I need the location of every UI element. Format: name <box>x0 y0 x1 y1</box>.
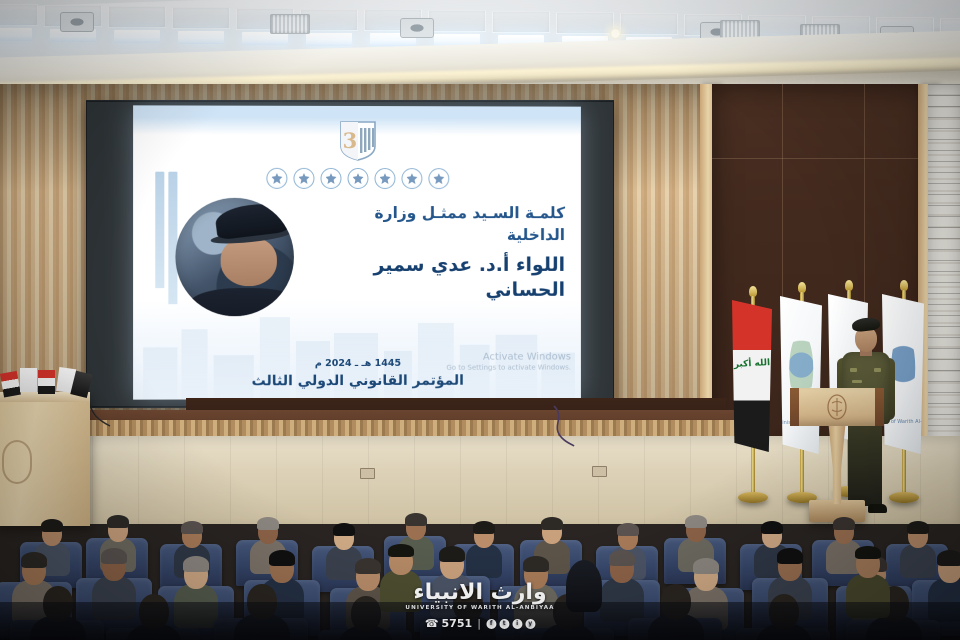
audience-hair <box>21 552 47 568</box>
desk-flag-white <box>20 368 37 392</box>
partner-logos-row <box>266 168 449 189</box>
projector-screen[interactable]: 3 كلمـة السـيد <box>133 105 581 399</box>
desk-flag-iraq-2 <box>38 370 55 394</box>
audience-hair <box>183 556 209 572</box>
audience-hair <box>333 523 355 536</box>
watermark-phone: ☎ 5751 <box>425 617 472 630</box>
slide-top-accent-left <box>133 105 179 115</box>
audience-hair <box>777 548 803 564</box>
ceiling-spotlight <box>610 28 621 39</box>
ceiling-light-panel <box>306 33 352 46</box>
flag-iraq-cloth: الله أكبر <box>732 300 772 452</box>
watermark-separator: | <box>477 617 481 630</box>
podium-emblem-icon <box>826 394 848 420</box>
audience-hair <box>473 521 495 534</box>
ceiling-tile <box>0 4 38 26</box>
slide-heading-line-1: كلمـة السـيد ممثـل وزارة <box>308 202 565 224</box>
audience-hair <box>269 550 295 566</box>
presentation-slide: 3 كلمـة السـيد <box>133 105 581 399</box>
ceiling-light-panel <box>0 28 32 41</box>
social-icon-t[interactable]: t <box>499 619 509 629</box>
audience-hair <box>617 523 639 536</box>
slide-heading-line-2: الداخلية <box>308 224 565 246</box>
audience-hair <box>439 546 465 562</box>
phone-icon: ☎ <box>425 617 439 630</box>
speaker-portrait-photo <box>175 198 294 316</box>
windows-activation-watermark: Activate Windows Go to Settings to activ… <box>446 351 571 372</box>
audience-hair <box>181 521 203 534</box>
social-icon-y[interactable]: y <box>525 619 535 629</box>
audience-hair <box>937 550 960 566</box>
officer-2-beret-icon <box>855 546 881 559</box>
badge-logo-7 <box>428 168 449 189</box>
audience-hair <box>833 517 855 530</box>
audience-hair <box>609 550 635 566</box>
wall-outlet-2 <box>592 466 607 477</box>
screen-cable <box>86 404 126 444</box>
ceiling-air-vent <box>270 14 310 34</box>
badge-logo-3 <box>320 168 341 189</box>
slide-speaker-name: اللواء أ.د. عدي سمير الحساني <box>308 253 565 302</box>
audience-hair <box>107 515 129 528</box>
channel-watermark: وارث الانبياء UNIVERSITY OF WARITH AL-AN… <box>405 581 554 630</box>
social-icon-f[interactable]: f <box>486 619 496 629</box>
badge-logo-6 <box>401 168 422 189</box>
badge-logo-4 <box>348 168 369 189</box>
audience-hair <box>523 556 549 572</box>
audience-hair <box>101 548 127 564</box>
audience-hair <box>355 558 381 574</box>
ceiling-light-panel <box>178 31 224 44</box>
badge-logo-2 <box>293 168 314 189</box>
ceiling-tile <box>556 12 614 34</box>
windows-watermark-subtitle: Go to Settings to activate Windows. <box>446 364 571 373</box>
ceiling-tile <box>172 7 230 29</box>
speaker-beret <box>851 317 880 333</box>
watermark-subtitle: UNIVERSITY OF WARITH AL-ANBIYAA <box>405 605 554 611</box>
officer-beret-icon <box>388 544 414 557</box>
conference-hall-scene: 3 كلمـة السـيد <box>0 0 960 640</box>
ceiling-fan-vent <box>60 12 94 32</box>
badge-logo-1 <box>266 168 287 189</box>
flag-iraq: الله أكبر <box>730 286 776 508</box>
ceiling-tile <box>492 11 550 33</box>
audience-hair <box>685 515 707 528</box>
ceiling <box>0 0 960 96</box>
slide-conference-title: المؤتمر القانوني الدولي الثالث <box>133 372 581 389</box>
watermark-contact-row: ☎ 5751 | ftiy <box>405 617 554 630</box>
projector-cable <box>548 404 588 448</box>
audience-hair <box>257 517 279 530</box>
audience-hair <box>405 513 427 526</box>
conference-logo-icon: 3 <box>339 120 377 162</box>
ceiling-fan-vent <box>400 18 434 38</box>
slide-top-accent-right <box>185 105 580 116</box>
social-icon-i[interactable]: i <box>512 619 522 629</box>
ceiling-light-panel <box>114 30 160 43</box>
audience-hair <box>541 517 563 530</box>
ceiling-tile <box>620 13 678 35</box>
audience-hair <box>693 558 719 574</box>
audience-hair <box>41 519 63 532</box>
wall-outlet-1 <box>360 468 375 479</box>
flag-iraq-text: الله أكبر <box>734 358 771 370</box>
watermark-logo-text: وارث الانبياء <box>405 581 554 604</box>
svg-text:3: 3 <box>343 128 358 153</box>
watermark-social-icons: ftiy <box>486 619 535 629</box>
audience-hair <box>761 521 783 534</box>
badge-logo-5 <box>374 168 395 189</box>
ceiling-tile <box>428 10 486 32</box>
windows-watermark-title: Activate Windows <box>446 351 571 364</box>
slide-text-block: كلمـة السـيد ممثـل وزارة الداخلية اللواء… <box>308 202 565 302</box>
ceiling-tile <box>108 6 166 28</box>
audience-hair <box>907 521 929 534</box>
watermark-phone-number: 5751 <box>442 617 473 630</box>
head-table-emblem <box>2 440 32 484</box>
